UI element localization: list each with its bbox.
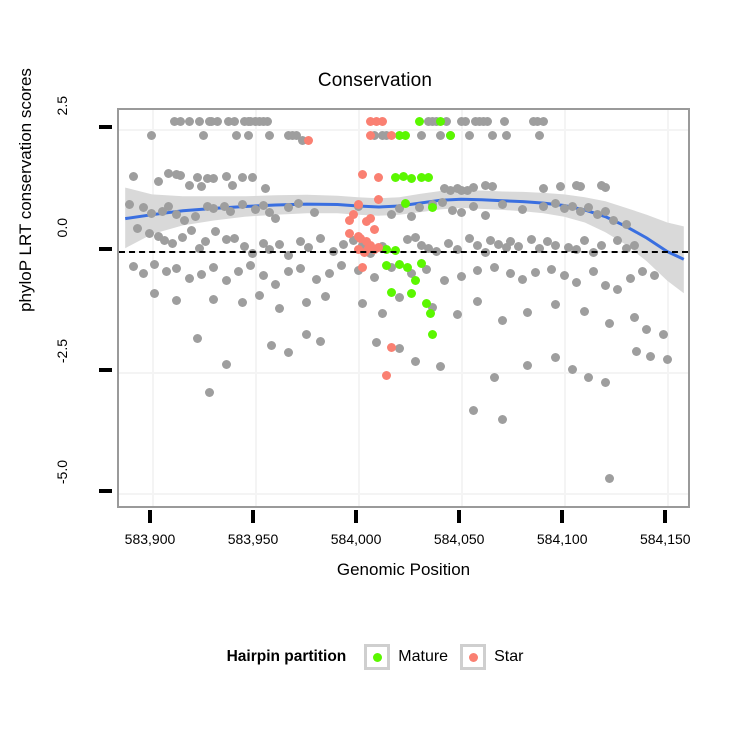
data-point-grey [199, 131, 208, 140]
data-point-grey [630, 313, 639, 322]
data-point-mature [436, 117, 445, 126]
data-point-star [387, 131, 396, 140]
data-point-grey [646, 352, 655, 361]
data-point-grey [150, 289, 159, 298]
data-point-grey [150, 260, 159, 269]
data-point-grey [498, 200, 507, 209]
data-point-grey [230, 117, 239, 126]
data-point-grey [539, 117, 548, 126]
data-point-mature [401, 131, 410, 140]
data-point-star [370, 225, 379, 234]
data-point-grey [663, 355, 672, 364]
data-point-grey [488, 131, 497, 140]
data-point-star [374, 195, 383, 204]
x-tick [251, 510, 255, 523]
data-point-star [358, 170, 367, 179]
data-point-grey [197, 182, 206, 191]
data-point-grey [265, 131, 274, 140]
x-tick-label: 583,900 [105, 531, 195, 547]
x-tick-label: 584,050 [414, 531, 504, 547]
legend-key-star [460, 644, 486, 670]
y-tick-label: 2.5 [54, 96, 70, 156]
y-tick-label: -5.0 [54, 460, 70, 520]
data-point-grey [176, 117, 185, 126]
data-point-grey [488, 182, 497, 191]
data-point-grey [498, 415, 507, 424]
y-tick [99, 247, 112, 251]
data-point-grey [560, 271, 569, 280]
data-point-grey [261, 184, 270, 193]
data-point-mature [387, 288, 396, 297]
y-tick [99, 368, 112, 372]
data-point-grey [209, 295, 218, 304]
data-point-mature [401, 199, 410, 208]
data-point-grey [457, 208, 466, 217]
y-tick [99, 125, 112, 129]
legend-title: Hairpin partition [227, 648, 347, 666]
data-point-grey [185, 274, 194, 283]
data-point-grey [601, 281, 610, 290]
legend-label-star: Star [494, 648, 523, 666]
data-point-star [387, 343, 396, 352]
data-point-grey [626, 274, 635, 283]
legend-label-mature: Mature [398, 648, 448, 666]
x-tick [560, 510, 564, 523]
data-point-grey [154, 177, 163, 186]
data-point-grey [411, 233, 420, 242]
data-point-star [366, 131, 375, 140]
data-point-grey [601, 378, 610, 387]
data-point-grey [284, 203, 293, 212]
data-point-grey [263, 117, 272, 126]
data-point-grey [498, 316, 507, 325]
data-point-grey [605, 319, 614, 328]
data-point-grey [632, 347, 641, 356]
data-point-star [366, 214, 375, 223]
data-point-grey [523, 308, 532, 317]
data-point-grey [238, 200, 247, 209]
data-point-mature [426, 309, 435, 318]
zero-reference-line [119, 251, 688, 253]
x-tick-label: 583,950 [208, 531, 298, 547]
data-point-grey [321, 292, 330, 301]
data-point-grey [601, 183, 610, 192]
data-point-grey [222, 360, 231, 369]
x-tick-label: 584,100 [517, 531, 607, 547]
plot-area [119, 110, 688, 506]
data-point-grey [395, 293, 404, 302]
data-point-grey [642, 325, 651, 334]
data-point-grey [556, 182, 565, 191]
data-point-star [345, 229, 354, 238]
data-point-grey [622, 220, 631, 229]
plot-panel[interactable] [117, 108, 690, 508]
data-point-grey [205, 388, 214, 397]
data-point-grey [438, 198, 447, 207]
data-point-grey [535, 131, 544, 140]
data-point-grey [411, 357, 420, 366]
data-point-grey [465, 131, 474, 140]
data-point-grey [178, 233, 187, 242]
x-tick [354, 510, 358, 523]
mature-dot-icon [373, 653, 382, 662]
data-point-grey [597, 241, 606, 250]
x-tick [148, 510, 152, 523]
x-tick [457, 510, 461, 523]
data-point-grey [191, 212, 200, 221]
data-point-grey [490, 373, 499, 382]
data-point-grey [547, 265, 556, 274]
data-point-star [358, 263, 367, 272]
data-point-grey [129, 262, 138, 271]
data-point-grey [284, 348, 293, 357]
legend-key-mature [364, 644, 390, 670]
data-point-star [354, 200, 363, 209]
data-point-grey [185, 181, 194, 190]
data-point-grey [589, 267, 598, 276]
data-point-grey [490, 263, 499, 272]
data-point-mature [407, 289, 416, 298]
data-point-grey [605, 474, 614, 483]
data-point-grey [469, 183, 478, 192]
data-point-grey [337, 261, 346, 270]
data-point-grey [461, 117, 470, 126]
data-point-grey [255, 291, 264, 300]
data-point-grey [523, 361, 532, 370]
legend-item-star[interactable]: Star [460, 644, 523, 670]
data-point-grey [294, 199, 303, 208]
loess-smooth [119, 110, 688, 506]
data-point-grey [630, 241, 639, 250]
data-point-grey [457, 272, 466, 281]
data-point-grey [395, 344, 404, 353]
data-point-grey [284, 267, 293, 276]
data-point-grey [133, 224, 142, 233]
y-tick-label: -2.5 [54, 339, 70, 399]
data-point-star [378, 117, 387, 126]
data-point-grey [228, 181, 237, 190]
data-point-grey [172, 296, 181, 305]
data-point-grey [195, 117, 204, 126]
data-point-grey [185, 117, 194, 126]
data-point-grey [436, 131, 445, 140]
data-point-grey [502, 131, 511, 140]
data-point-grey [125, 200, 134, 209]
y-tick [99, 489, 112, 493]
data-point-grey [222, 276, 231, 285]
data-point-grey [387, 210, 396, 219]
data-point-grey [453, 310, 462, 319]
x-tick-label: 584,000 [311, 531, 401, 547]
data-point-grey [473, 266, 482, 275]
y-tick-label: 0.0 [54, 218, 70, 278]
chart-root: Conservation phyloP LRT conservation sco… [0, 0, 750, 750]
data-point-grey [500, 117, 509, 126]
x-tick-label: 584,150 [620, 531, 710, 547]
data-point-grey [244, 131, 253, 140]
data-point-mature [403, 263, 412, 272]
star-dot-icon [469, 653, 478, 662]
data-point-grey [187, 226, 196, 235]
data-point-grey [465, 234, 474, 243]
data-point-grey [296, 264, 305, 273]
data-point-grey [576, 182, 585, 191]
data-point-grey [230, 234, 239, 243]
x-tick [663, 510, 667, 523]
data-point-grey [232, 131, 241, 140]
data-point-grey [172, 264, 181, 273]
data-point-grey [209, 263, 218, 272]
legend-item-mature[interactable]: Mature [364, 644, 448, 670]
legend: Hairpin partition Mature Star [0, 644, 750, 670]
data-point-mature [446, 131, 455, 140]
